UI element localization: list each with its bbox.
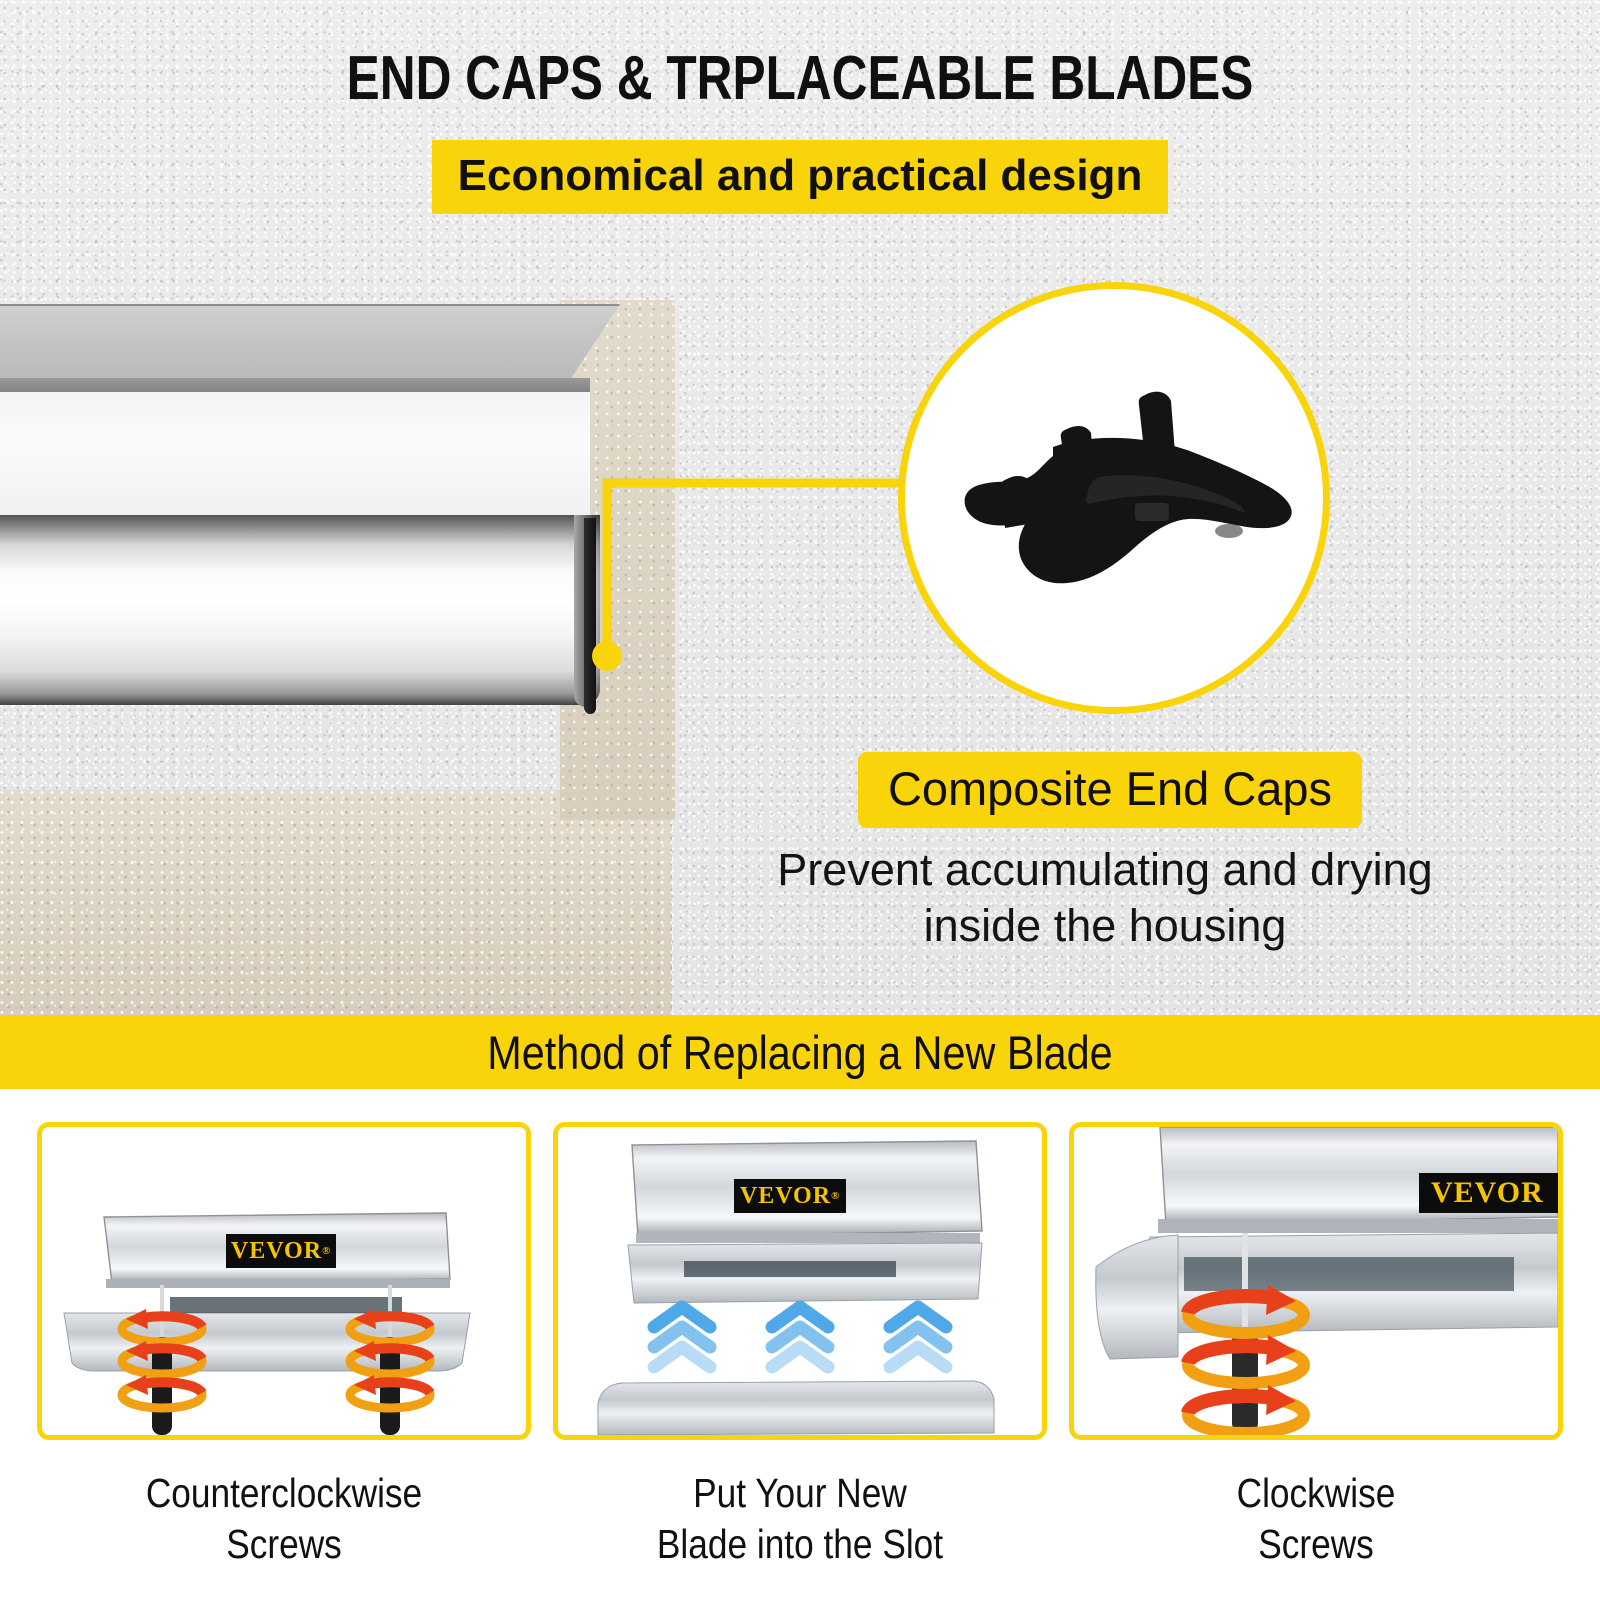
step-caption-3: Clockwise Screws — [1104, 1468, 1529, 1570]
steps-panel-row: VEVOR® — [0, 1122, 1600, 1442]
step-caption-2-line1: Put Your New — [588, 1468, 1013, 1519]
step-caption-1-line2: Screws — [72, 1519, 497, 1570]
callout-description: Prevent accumulating and drying inside t… — [735, 842, 1475, 954]
step-panel-3: VEVOR — [1069, 1122, 1563, 1440]
replacement-blade — [598, 1381, 994, 1435]
composite-end-cap-icon — [949, 385, 1294, 615]
vevor-logo-2: VEVOR® — [734, 1179, 846, 1213]
step-caption-1: Counterclockwise Screws — [72, 1468, 497, 1570]
step-caption-3-line2: Screws — [1104, 1519, 1529, 1570]
vevor-logo-text-2: VEVOR — [740, 1183, 831, 1210]
callout-description-line1: Prevent accumulating and drying — [735, 842, 1475, 898]
callout-badge-label: Composite End Caps — [858, 752, 1362, 828]
product-handle-bracket — [0, 304, 620, 384]
insert-chevron-2 — [772, 1307, 828, 1367]
step-caption-3-line1: Clockwise — [1104, 1468, 1529, 1519]
section-banner-label: Method of Replacing a New Blade — [96, 1025, 1504, 1081]
vevor-logo-3: VEVOR — [1419, 1173, 1563, 1213]
infographic-page: END CAPS & TRPLACEABLE BLADES Economical… — [0, 0, 1600, 1600]
callout-description-line2: inside the housing — [735, 898, 1475, 954]
product-end-cap-edge — [584, 518, 596, 714]
product-housing-tube — [0, 515, 600, 705]
step-panel-1: VEVOR® — [37, 1122, 531, 1440]
insert-chevron-1 — [654, 1307, 710, 1367]
subtitle-container: Economical and practical design — [0, 140, 1600, 214]
step-2-illustration — [558, 1127, 1042, 1435]
page-title: END CAPS & TRPLACEABLE BLADES — [160, 45, 1440, 113]
vevor-logo-text-1: VEVOR — [231, 1238, 322, 1265]
step-caption-2: Put Your New Blade into the Slot — [588, 1468, 1013, 1570]
insert-chevron-3 — [890, 1307, 946, 1367]
callout-badge-container: Composite End Caps — [760, 752, 1460, 828]
subtitle-badge: Economical and practical design — [432, 140, 1169, 214]
step-caption-2-line2: Blade into the Slot — [588, 1519, 1013, 1570]
product-photo-skimming-blade — [0, 300, 680, 825]
vevor-logo-1: VEVOR® — [226, 1234, 336, 1268]
vevor-logo-text-3: VEVOR — [1431, 1176, 1544, 1210]
step-caption-1-line1: Counterclockwise — [72, 1468, 497, 1519]
product-blade-face — [0, 392, 590, 523]
magnifier-circle — [898, 282, 1330, 714]
step-panel-2: VEVOR® — [553, 1122, 1047, 1440]
step-1-illustration — [42, 1127, 526, 1435]
insert-chevrons-group — [654, 1307, 946, 1367]
